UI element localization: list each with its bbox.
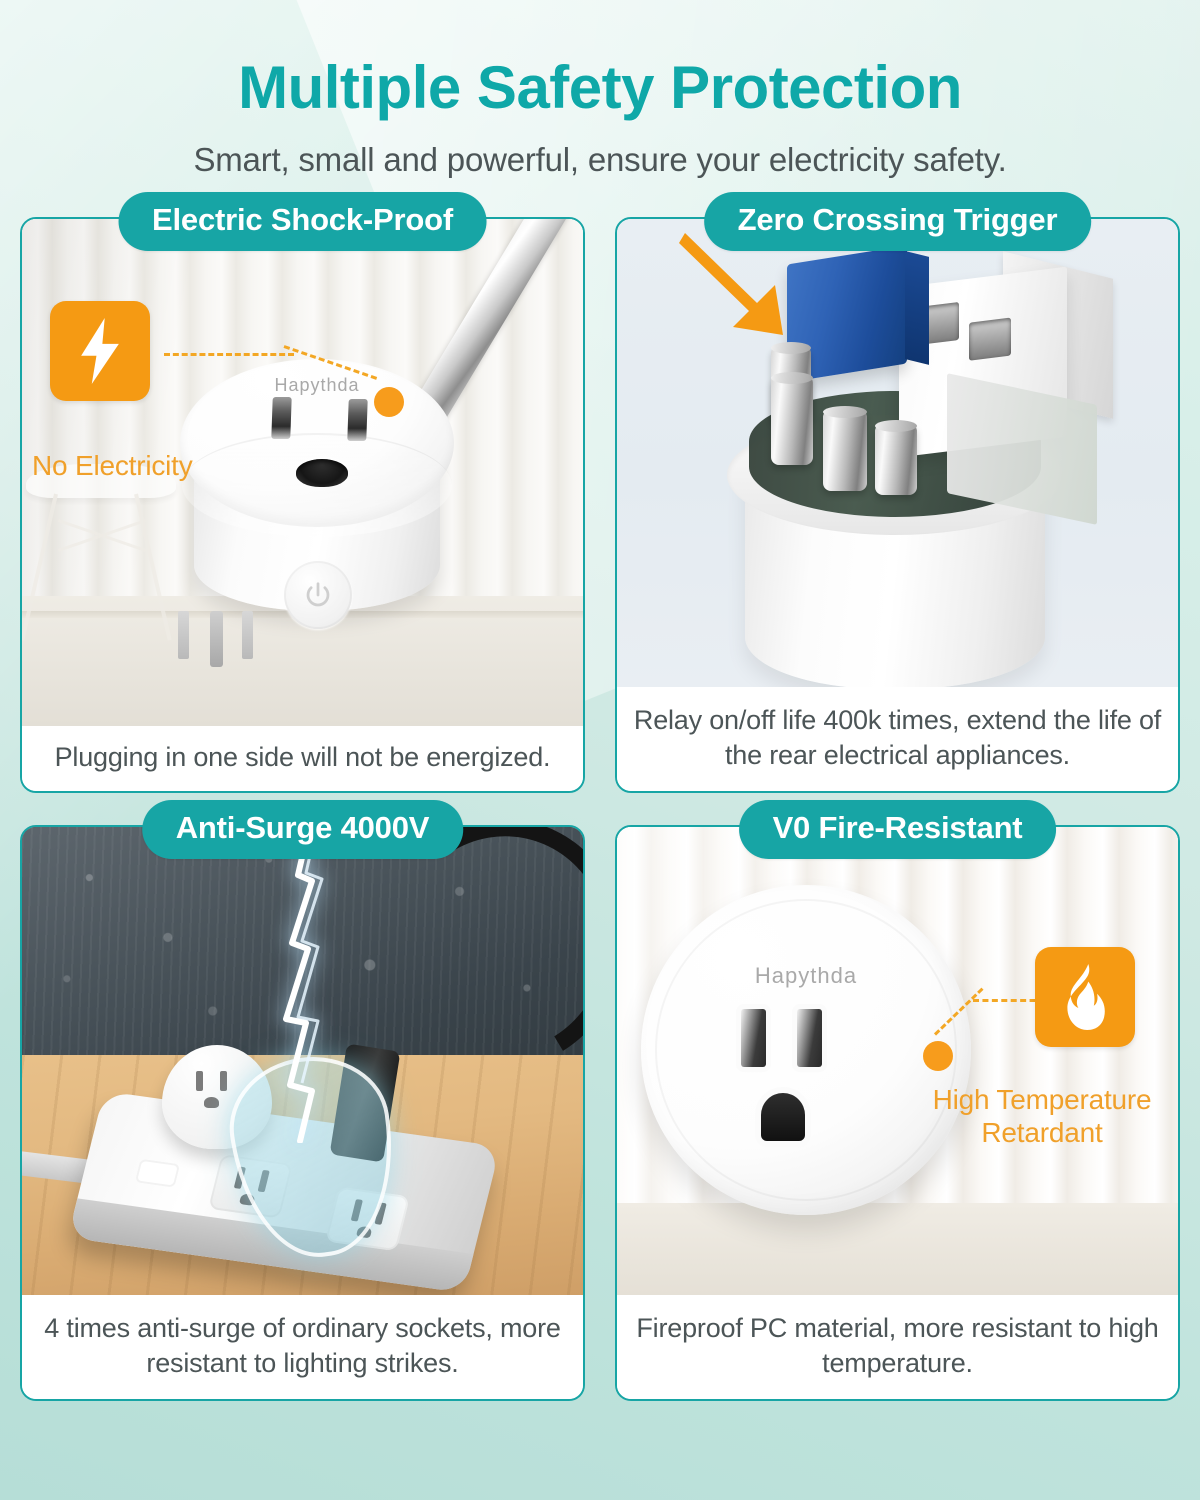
panel-2-photo — [617, 219, 1178, 687]
panel-1-badge: Electric Shock-Proof — [118, 192, 487, 251]
outlet-ground-hole — [761, 1093, 805, 1141]
panel-2-caption: Relay on/off life 400k times, extend the… — [617, 687, 1178, 791]
callout-dash-line-1 — [164, 353, 294, 356]
brand-logo: Hapythda — [755, 963, 857, 989]
feature-panel-anti-surge: 4 times anti-surge of ordinary sockets, … — [20, 825, 585, 1401]
lightning-strike-icon — [272, 827, 342, 1143]
callout-label-no-electricity: No Electricity — [32, 449, 193, 482]
feature-panel-zero-crossing-trigger: Relay on/off life 400k times, extend the… — [615, 217, 1180, 793]
flame-icon — [1035, 947, 1135, 1047]
lightning-bolt-icon — [50, 301, 150, 401]
feature-panel-fire-resistant: Hapythda High Temperature Reta — [615, 825, 1180, 1401]
lightning-bolt-glyph — [71, 318, 129, 384]
power-button-icon — [284, 561, 352, 629]
panel-3-caption: 4 times anti-surge of ordinary sockets, … — [22, 1295, 583, 1399]
panel-3-badge: Anti-Surge 4000V — [142, 800, 464, 859]
chair-decor-icon — [26, 464, 196, 664]
panel-4-caption: Fireproof PC material, more resistant to… — [617, 1295, 1178, 1399]
outlet-slot-right — [347, 399, 367, 441]
smart-plug-top-view: Hapythda — [172, 349, 462, 639]
lightning-glyph — [272, 827, 342, 1143]
panel-1-photo: Hapythda — [22, 219, 583, 726]
panel-4-badge: V0 Fire-Resistant — [739, 800, 1057, 859]
infographic-page: Multiple Safety Protection Smart, small … — [0, 0, 1200, 1500]
callout-dot — [374, 387, 404, 417]
capacitor-icon — [771, 377, 813, 465]
page-title: Multiple Safety Protection — [0, 56, 1200, 119]
feature-grid: Hapythda — [20, 217, 1180, 1401]
feature-panel-electric-shock-proof: Hapythda — [20, 217, 585, 793]
page-subtitle: Smart, small and powerful, ensure your e… — [0, 141, 1200, 179]
outlet-slot-left — [741, 1009, 766, 1067]
flame-glyph — [1056, 964, 1114, 1030]
smart-plug-front-view: Hapythda — [641, 885, 971, 1215]
plug-prongs — [172, 611, 264, 667]
outlet-slot-right — [797, 1009, 822, 1067]
brand-logo: Hapythda — [274, 375, 359, 396]
header: Multiple Safety Protection Smart, small … — [0, 0, 1200, 179]
power-strip-switch — [135, 1159, 180, 1188]
outlet-ground-hole — [296, 459, 348, 487]
panel-2-badge: Zero Crossing Trigger — [704, 192, 1092, 251]
capacitor-icon — [875, 425, 917, 495]
callout-label-high-temperature-retardant: High Temperature Retardant — [917, 1083, 1167, 1149]
capacitor-icon — [823, 411, 867, 491]
panel-4-photo: Hapythda High Temperature Reta — [617, 827, 1178, 1295]
panel-3-photo — [22, 827, 583, 1295]
callout-dot — [923, 1041, 953, 1071]
outlet-slot-left — [271, 397, 291, 439]
panel-1-caption: Plugging in one side will not be energiz… — [22, 726, 583, 791]
